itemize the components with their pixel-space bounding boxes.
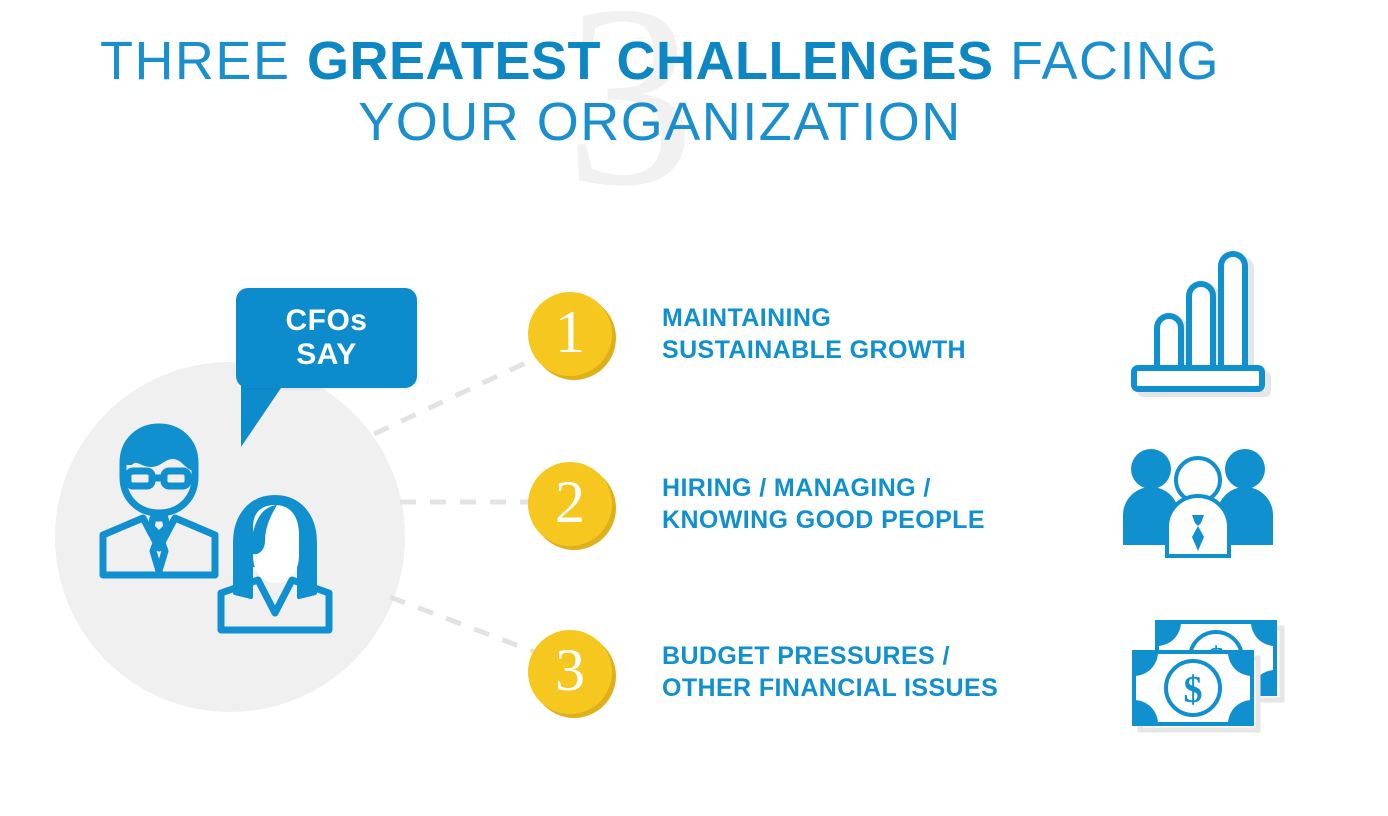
infographic-canvas: 3 THREE GREATEST CHALLENGES FACING YOUR … (0, 0, 1388, 816)
challenge-number-3: 3 (555, 640, 585, 704)
title-line-2: YOUR ORGANIZATION (0, 95, 1320, 150)
badge-disc: 1 (528, 292, 612, 376)
challenge-label-3-line-1: BUDGET PRESSURES / (662, 640, 998, 672)
challenge-label-3: BUDGET PRESSURES / OTHER FINANCIAL ISSUE… (662, 640, 998, 704)
title-line-1: THREE GREATEST CHALLENGES FACING (0, 34, 1320, 89)
speech-bubble-line-2: SAY (296, 338, 356, 372)
challenge-number-badge-1: 1 (528, 292, 612, 376)
title-part-your-organization: YOUR ORGANIZATION (358, 92, 962, 152)
speech-bubble: CFOs SAY (236, 288, 417, 388)
title-part-three: THREE (100, 31, 307, 91)
challenge-label-2-line-2: KNOWING GOOD PEOPLE (662, 504, 985, 536)
three-people-team-icon (1118, 443, 1278, 563)
challenge-row-2: 2 HIRING / MANAGING / KNOWING GOOD PEOPL… (528, 462, 985, 546)
page-title: THREE GREATEST CHALLENGES FACING YOUR OR… (0, 34, 1320, 150)
challenge-row-1: 1 MAINTAINING SUSTAINABLE GROWTH (528, 292, 966, 376)
challenge-label-2-line-1: HIRING / MANAGING / (662, 472, 985, 504)
speech-bubble-line-1: CFOs (285, 304, 367, 338)
bar-chart-growth-icon (1110, 248, 1285, 398)
businessman-businesswoman-icon (95, 415, 355, 635)
money-banknotes-icon: $ $ (1124, 614, 1289, 734)
title-part-greatest-challenges: GREATEST CHALLENGES (307, 31, 994, 91)
challenge-row-3: 3 BUDGET PRESSURES / OTHER FINANCIAL ISS… (528, 630, 998, 714)
challenge-number-badge-3: 3 (528, 630, 612, 714)
title-part-facing: FACING (994, 31, 1221, 91)
challenge-label-1-line-2: SUSTAINABLE GROWTH (662, 334, 966, 366)
badge-disc: 2 (528, 462, 612, 546)
svg-text:$: $ (1184, 669, 1203, 711)
challenge-number-2: 2 (555, 472, 585, 536)
connector-line-3 (390, 597, 540, 654)
challenge-number-badge-2: 2 (528, 462, 612, 546)
badge-disc: 3 (528, 630, 612, 714)
speech-bubble-tail (241, 385, 283, 447)
challenge-label-1: MAINTAINING SUSTAINABLE GROWTH (662, 302, 966, 366)
challenge-label-3-line-2: OTHER FINANCIAL ISSUES (662, 672, 998, 704)
challenge-number-1: 1 (555, 302, 585, 366)
challenge-label-2: HIRING / MANAGING / KNOWING GOOD PEOPLE (662, 472, 985, 536)
challenge-label-1-line-1: MAINTAINING (662, 302, 966, 334)
